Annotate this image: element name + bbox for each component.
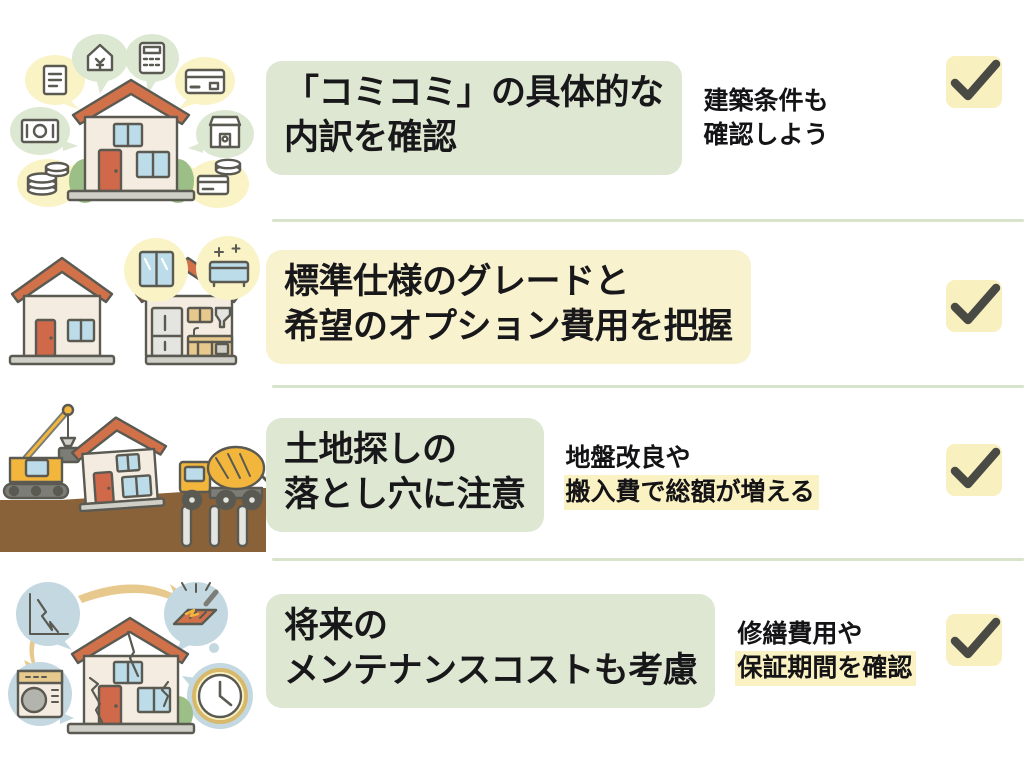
row-4-note: 修繕費用や 保証期間を確認 <box>737 617 912 686</box>
row-1-label-line-1: 「コミコミ」の具体的な <box>284 71 664 116</box>
checklist-row-3: 土地探しの 落とし穴に注意 地盤改良や 搬入費で総額が増える <box>0 396 1024 554</box>
row-1-label-box: 「コミコミ」の具体的な 内訳を確認 <box>266 61 682 175</box>
washing-machine-icon <box>8 662 74 726</box>
row-3-label-box: 土地探しの 落とし穴に注意 <box>266 418 544 532</box>
tilted-house-icon <box>70 414 170 511</box>
crack-chart-icon <box>16 582 80 650</box>
row-4-label-line-2: メンテナンスコストも考慮 <box>284 649 697 694</box>
checkmark-badge-3[interactable] <box>942 438 1006 502</box>
checkmark-badge-4[interactable] <box>942 608 1006 672</box>
row-4-content: 将来の メンテナンスコストも考慮 修繕費用や 保証期間を確認 <box>266 566 1024 736</box>
infographic-sheet: 「コミコミ」の具体的な 内訳を確認 建築条件も 確認しよう <box>0 0 1024 768</box>
row-1-note-line-1: 建築条件も <box>704 84 829 119</box>
bubble-banknote <box>10 107 78 155</box>
row-2-label-line-2: 希望のオプション費用を把握 <box>284 305 733 350</box>
bubble-credit-card <box>175 57 235 110</box>
check-icon <box>942 50 1006 114</box>
row-3-note-line-2: 搬入費で総額が増える <box>566 475 815 510</box>
illustration-standard-vs-optional-house <box>0 232 266 382</box>
crane-icon <box>4 405 79 498</box>
row-separator-2 <box>272 385 1024 388</box>
illustration-land-groundwork-site <box>0 396 266 554</box>
row-separator-1 <box>272 219 1024 222</box>
row-separator-3 <box>272 558 1024 561</box>
check-icon <box>942 438 1006 502</box>
row-3-label-line-2: 落とし穴に注意 <box>284 473 526 518</box>
row-1-content: 「コミコミ」の具体的な 内訳を確認 建築条件も 確認しよう <box>266 18 1024 218</box>
row-2-label-line-1: 標準仕様のグレードと <box>284 260 733 305</box>
checklist-row-4: 将来の メンテナンスコストも考慮 修繕費用や 保証期間を確認 <box>0 566 1024 736</box>
row-1-note-line-2: 確認しよう <box>704 118 829 153</box>
house-icon <box>68 80 194 200</box>
row-3-content: 土地探しの 落とし穴に注意 地盤改良や 搬入費で総額が増える <box>266 396 1024 554</box>
checklist-row-1: 「コミコミ」の具体的な 内訳を確認 建築条件も 確認しよう <box>0 18 1024 218</box>
row-2-label-box: 標準仕様のグレードと 希望のオプション費用を把握 <box>266 250 751 364</box>
illustration-house-with-cost-bubbles <box>0 18 266 218</box>
counter-bubble-icon <box>196 236 260 300</box>
check-icon <box>942 274 1006 338</box>
mixer-truck-icon <box>180 447 266 509</box>
window-bubble-icon <box>124 238 188 302</box>
row-2-content: 標準仕様のグレードと 希望のオプション費用を把握 <box>266 232 1024 382</box>
row-4-note-line-2: 保証期間を確認 <box>737 651 912 686</box>
row-3-note-line-1: 地盤改良や <box>566 441 815 476</box>
checklist-row-2: 標準仕様のグレードと 希望のオプション費用を把握 <box>0 232 1024 382</box>
row-1-note: 建築条件も 確認しよう <box>704 84 829 153</box>
row-3-label-line-1: 土地探しの <box>284 428 526 473</box>
illustration-maintenance-cost-house <box>0 566 266 736</box>
row-3-note: 地盤改良や 搬入費で総額が増える <box>566 441 815 510</box>
row-4-note-line-1: 修繕費用や <box>737 617 912 652</box>
row-1-label-line-2: 内訳を確認 <box>284 116 664 161</box>
clock-icon <box>182 663 253 729</box>
checkmark-badge-1[interactable] <box>942 50 1006 114</box>
pile-foundation-icon <box>182 506 247 546</box>
checkmark-badge-2[interactable] <box>942 274 1006 338</box>
row-4-label-line-1: 将来の <box>284 604 697 649</box>
bubble-shop <box>188 110 254 158</box>
check-icon <box>942 608 1006 672</box>
roof-repair-icon <box>164 582 228 653</box>
plain-house-icon <box>10 258 114 364</box>
row-4-label-box: 将来の メンテナンスコストも考慮 <box>266 594 715 708</box>
